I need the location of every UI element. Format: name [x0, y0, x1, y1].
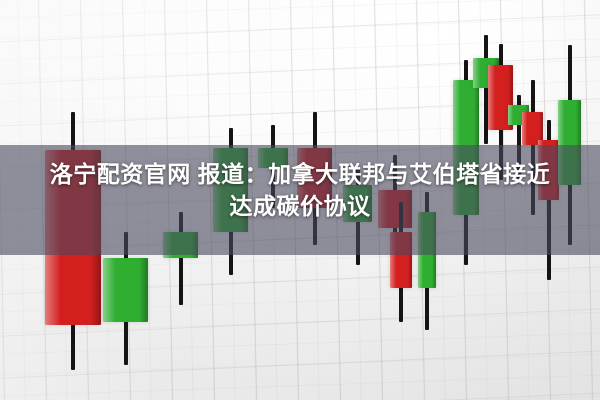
chart-hero-image: 洛宁配资官网 报道：加拿大联邦与艾伯塔省接近 达成碳价协议	[0, 0, 600, 400]
candlestick-body-bullish	[103, 258, 148, 322]
headline-text: 洛宁配资官网 报道：加拿大联邦与艾伯塔省接近 达成碳价协议	[0, 159, 600, 222]
headline-line-2: 达成碳价协议	[12, 191, 588, 223]
headline-line-1: 洛宁配资官网 报道：加拿大联邦与艾伯塔省接近	[12, 159, 588, 191]
